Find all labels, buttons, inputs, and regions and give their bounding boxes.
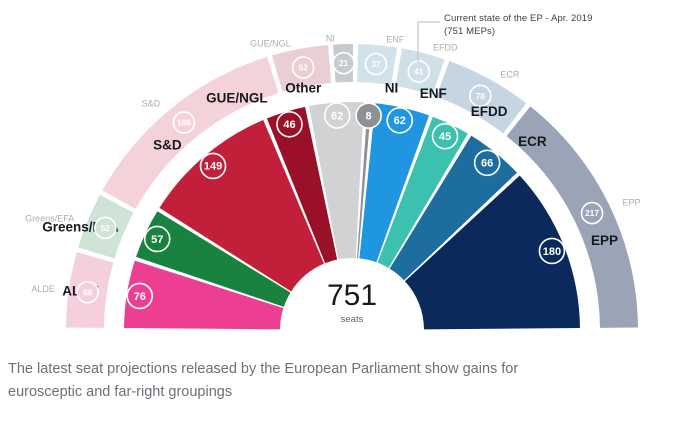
outer-ecr-value: 78: [476, 91, 486, 101]
outer-label-enf: ENF: [386, 35, 405, 45]
seat-projection-chart: 180EPP217EPP66ECR78ECR45EFDD41EFDD62ENF3…: [0, 0, 690, 422]
inner-other-value: 62: [331, 110, 343, 122]
inner-sd-value: 149: [204, 161, 222, 173]
inner-efdd-value: 45: [439, 131, 451, 143]
inner-ni-value: 8: [366, 110, 372, 122]
center-total-label: seats: [341, 314, 364, 325]
inner-label-sd: S&D: [153, 137, 182, 152]
outer-label-alde: ALDE: [31, 284, 55, 294]
outer-epp-value: 217: [585, 208, 599, 218]
inner-label-other: Other: [285, 81, 322, 96]
outer-greens-value: 52: [101, 223, 111, 233]
annotation-line-2: (751 MEPs): [444, 26, 495, 38]
outer-label-ni: NI: [326, 34, 335, 44]
outer-alde-value: 68: [83, 287, 93, 297]
outer-label-epp: EPP: [623, 198, 641, 208]
center-total: 751 seats: [327, 279, 377, 325]
outer-label-greens: Greens/EFA: [25, 214, 74, 224]
inner-guengl-value: 46: [283, 119, 295, 131]
inner-label-enf: ENF: [420, 86, 447, 101]
inner-ecr-value: 66: [481, 158, 493, 170]
outer-label-efdd: EFDD: [433, 43, 458, 53]
inner-label-ecr: ECR: [518, 134, 547, 149]
inner-epp-value: 180: [543, 246, 561, 258]
inner-label-epp: EPP: [591, 233, 618, 248]
inner-greens-value: 57: [151, 234, 163, 246]
inner-label-ni: NI: [385, 81, 399, 96]
chart-caption: The latest seat projections released by …: [8, 358, 658, 404]
caption-line-1: The latest seat projections released by …: [8, 358, 658, 381]
outer-sd-value: 186: [177, 118, 191, 128]
caption-line-2: eurosceptic and far-right groupings: [8, 381, 658, 404]
outer-guengl-value: 52: [298, 63, 308, 73]
annotation-line-1: Current state of the EP - Apr. 2019: [444, 13, 593, 25]
outer-enf-value: 37: [371, 59, 381, 69]
outer-label-sd: S&D: [142, 99, 161, 109]
center-total-value: 751: [327, 279, 377, 312]
inner-label-efdd: EFDD: [471, 104, 508, 119]
outer-label-ecr: ECR: [500, 69, 520, 79]
outer-ni-value: 21: [339, 58, 349, 68]
inner-alde-value: 76: [134, 291, 146, 303]
inner-label-guengl: GUE/NGL: [206, 90, 268, 105]
inner-enf-value: 62: [394, 115, 406, 127]
outer-efdd-value: 41: [414, 67, 424, 77]
outer-label-guengl: GUE/NGL: [250, 38, 291, 48]
